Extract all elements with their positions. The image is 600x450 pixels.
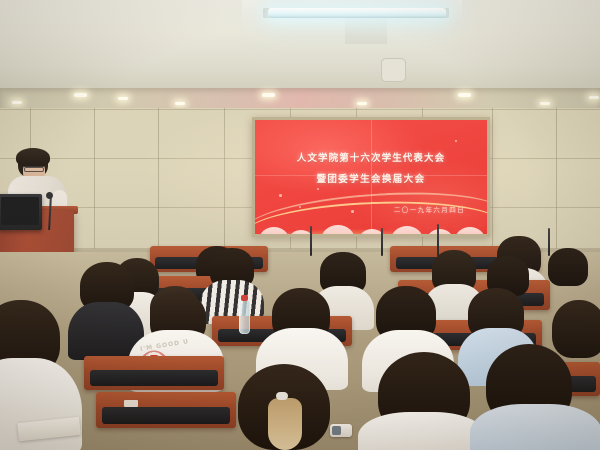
downlight-icon xyxy=(458,93,471,97)
bench-row-2[interactable] xyxy=(84,356,224,390)
projection-screen-frame: 人文学院第十六次学生代表大会 暨团委学生会换届大会 二〇一九年六月四日 xyxy=(252,117,490,237)
monitor-screen xyxy=(1,197,39,225)
slide-cloud-decor-row xyxy=(255,218,487,234)
ponytail xyxy=(268,398,302,450)
ceiling-fluorescent-tube-icon xyxy=(268,8,446,18)
hair xyxy=(552,300,600,358)
podium-monitor xyxy=(0,194,42,230)
slide-title: 人文学院第十六次学生代表大会 xyxy=(255,150,487,164)
audience-member xyxy=(548,248,588,286)
hair xyxy=(548,248,588,286)
eyeglasses-icon xyxy=(24,166,44,172)
downlight-icon xyxy=(589,96,599,99)
ceiling-access-panel xyxy=(381,58,406,82)
sparkle-decor xyxy=(279,194,282,197)
bottle-cap xyxy=(241,295,248,301)
seat-number-tag xyxy=(124,400,138,407)
sparkle-decor xyxy=(455,140,457,142)
downlight-icon xyxy=(74,93,87,97)
microphone-pole xyxy=(310,226,312,256)
cloud-decor xyxy=(391,226,423,234)
bench-cushion xyxy=(90,370,219,386)
projection-screen: 人文学院第十六次学生代表大会 暨团委学生会换届大会 二〇一九年六月四日 xyxy=(255,120,487,234)
mobile-phone[interactable] xyxy=(330,424,352,437)
downlight-icon xyxy=(357,102,367,105)
microphone-pole xyxy=(381,228,383,256)
slide-subtitle: 暨团委学生会换届大会 xyxy=(255,171,487,185)
ceiling-soffit-band xyxy=(0,88,600,110)
downlight-icon xyxy=(118,97,128,100)
cloud-decor xyxy=(427,229,453,234)
cloud-decor xyxy=(321,225,355,234)
downlight-icon xyxy=(12,101,22,104)
audience-member xyxy=(552,300,600,358)
water-bottle[interactable] xyxy=(239,300,250,334)
bench-cushion xyxy=(102,407,231,424)
bench-row-2[interactable] xyxy=(96,392,236,428)
air-vent xyxy=(345,18,387,44)
audience-torso-foreground xyxy=(358,412,486,450)
conference-photo-scene: 人文学院第十六次学生代表大会 暨团委学生会换届大会 二〇一九年六月四日 xyxy=(0,0,600,450)
downlight-icon xyxy=(262,93,275,97)
audience-torso-foreground xyxy=(470,404,600,450)
hair-tie xyxy=(276,392,288,400)
cloud-decor xyxy=(455,227,485,234)
downlight-icon xyxy=(540,102,550,105)
cloud-decor xyxy=(259,227,289,234)
phone-screen xyxy=(332,426,341,435)
microphone-icon xyxy=(46,192,53,199)
sparkle-decor xyxy=(317,188,319,190)
downlight-icon xyxy=(175,102,185,105)
speaker-hair xyxy=(16,148,50,167)
